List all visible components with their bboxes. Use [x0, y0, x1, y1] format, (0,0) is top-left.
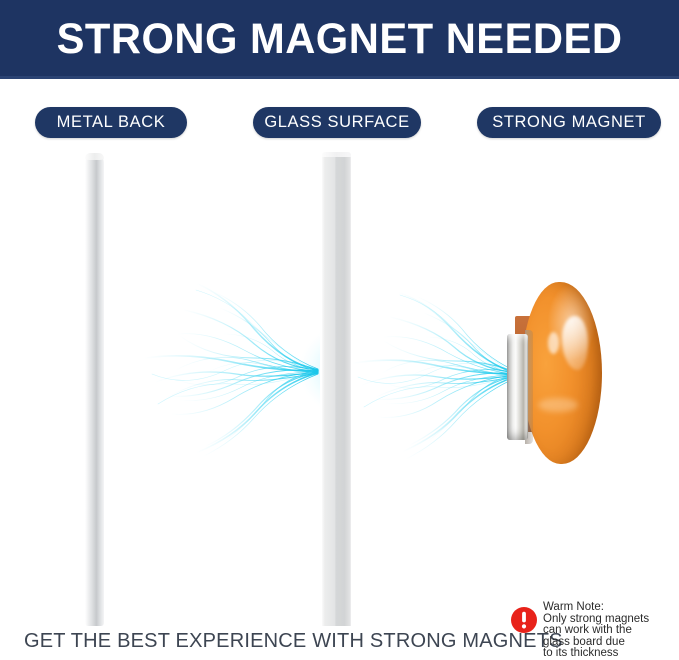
magnet-gloss-highlight-small [548, 332, 559, 354]
header-underline [0, 76, 679, 79]
warm-note-line-5: to its thickness [543, 648, 675, 660]
magnet-dome [522, 282, 602, 464]
label-metal-back: METAL BACK [35, 107, 187, 138]
glass-surface-bar-cap [322, 152, 351, 157]
bottom-caption: GET THE BEST EXPERIENCE WITH STRONG MAGN… [24, 630, 492, 653]
warm-note-line-1: Warm Note: [543, 602, 675, 614]
label-strong-magnet-text: STRONG MAGNET [492, 113, 646, 132]
product-infographic: STRONG MAGNET NEEDED METAL BACK GLASS SU… [0, 0, 679, 660]
magnet-illustration [498, 278, 610, 468]
exclamation-circle-icon [510, 606, 538, 634]
magnetic-field-right-icon [348, 285, 520, 467]
metal-back-bar-cap [85, 153, 104, 160]
label-glass-surface-text: GLASS SURFACE [264, 113, 409, 132]
magnet-gloss-highlight-edge [538, 398, 578, 412]
glass-surface-bar [322, 154, 351, 626]
metal-back-bar [85, 154, 104, 626]
label-glass-surface: GLASS SURFACE [253, 107, 421, 138]
magnetic-field-left-icon [140, 272, 320, 472]
page-title: STRONG MAGNET NEEDED [10, 14, 669, 64]
warm-note-text: Warm Note: Only strong magnets can work … [543, 602, 675, 660]
label-strong-magnet: STRONG MAGNET [477, 107, 661, 138]
label-metal-back-text: METAL BACK [57, 113, 166, 132]
magnet-metal-disc [507, 334, 528, 440]
